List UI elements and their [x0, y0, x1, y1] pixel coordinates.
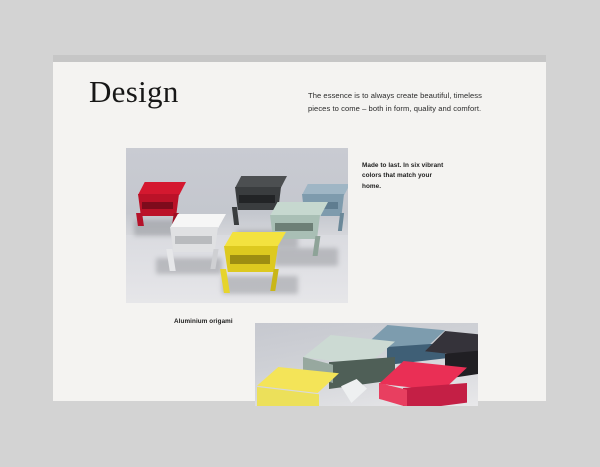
content-panel: Design The essence is to always create b… [53, 62, 546, 401]
stool-yellow [222, 232, 290, 294]
intro-paragraph: The essence is to always create beautifu… [308, 89, 504, 115]
stool-white [168, 214, 228, 272]
photo-caption: Aluminium origami [174, 318, 233, 325]
block-yellow [257, 367, 341, 406]
side-note: Made to last. In six vibrant colors that… [362, 161, 448, 192]
slide-canvas: Design The essence is to always create b… [0, 0, 600, 467]
page-title: Design [89, 76, 179, 107]
block-red [379, 361, 471, 406]
panel-shadow [53, 55, 546, 62]
bottom-product-photo [255, 323, 478, 406]
top-product-photo [126, 148, 348, 303]
